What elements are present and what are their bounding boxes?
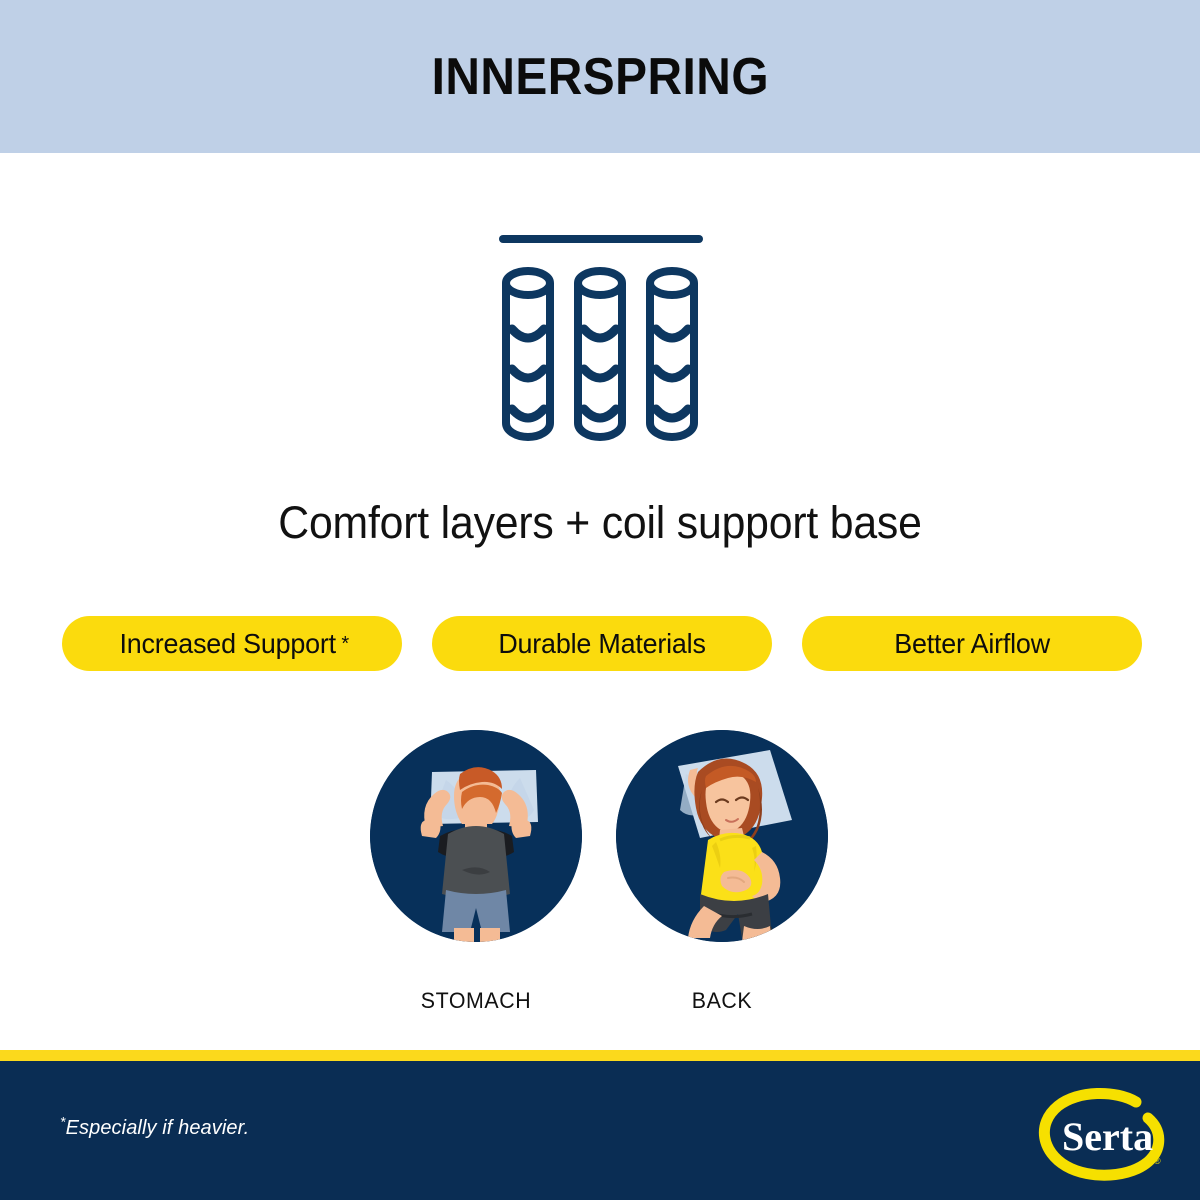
feature-pill-label: Increased Support: [119, 628, 335, 660]
coil-cylinder-3: [650, 271, 694, 437]
infographic-page: INNERSPRING: [0, 0, 1200, 1200]
sleep-position-label-back: BACK: [610, 988, 833, 1014]
back-sleeper-illustration: [616, 730, 828, 942]
page-title: INNERSPRING: [431, 47, 768, 107]
feature-pill-durable-materials[interactable]: Durable Materials: [432, 616, 772, 671]
feature-pill-better-airflow[interactable]: Better Airflow: [802, 616, 1142, 671]
coil-cylinder-1: [506, 271, 550, 437]
sleep-position-back[interactable]: BACK: [607, 730, 837, 1014]
serta-logo[interactable]: Serta ®: [1032, 1086, 1172, 1184]
sleep-position-stomach[interactable]: STOMACH: [361, 730, 591, 1014]
sleep-position-label-stomach: STOMACH: [364, 988, 587, 1014]
header-band: INNERSPRING: [0, 0, 1200, 153]
footnote-text: *Especially if heavier.: [60, 1117, 249, 1140]
feature-pill-label: Better Airflow: [894, 628, 1050, 660]
feature-pill-row: Increased Support* Durable Materials Bet…: [62, 616, 1142, 671]
registered-trademark-icon: ®: [1154, 1156, 1161, 1166]
sleep-positions: STOMACH: [0, 730, 1200, 1020]
feature-pill-increased-support[interactable]: Increased Support*: [62, 616, 402, 671]
coil-cylinder-2: [578, 271, 622, 437]
stomach-sleeper-illustration: [370, 730, 582, 942]
footnote-body: Especially if heavier.: [66, 1117, 250, 1139]
innerspring-coils-icon: [470, 225, 730, 450]
footer-accent-rule: [0, 1050, 1200, 1061]
serta-wordmark: Serta: [1062, 1114, 1153, 1159]
subtitle: Comfort layers + coil support base: [30, 497, 1170, 549]
feature-pill-label: Durable Materials: [498, 628, 705, 660]
